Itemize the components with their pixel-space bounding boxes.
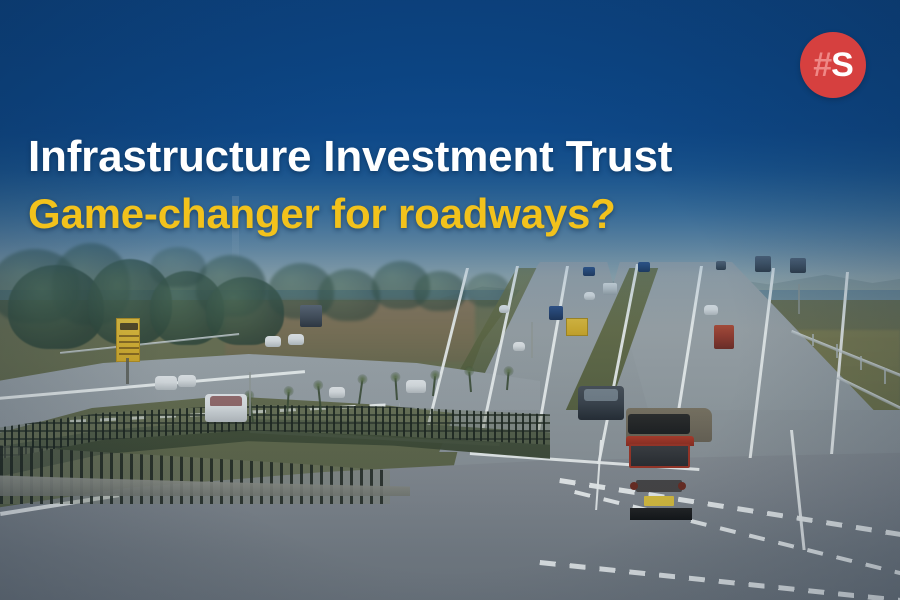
truck-number-plate (644, 496, 674, 506)
billboard-post (126, 358, 129, 384)
headline-block: Infrastructure Investment Trust Game-cha… (28, 128, 848, 242)
headline-primary: Infrastructure Investment Trust (28, 128, 848, 186)
vehicle-truck (603, 283, 617, 295)
car-windshield (210, 396, 242, 406)
truck-wheels (630, 508, 692, 520)
vehicle-car (288, 334, 304, 345)
vehicle-car (499, 305, 509, 313)
billboard-graphic (120, 323, 138, 330)
guardrail-post (884, 368, 886, 384)
article-hero-banner: Infrastructure Investment Trust Game-cha… (0, 0, 900, 600)
guardrail-post (860, 356, 862, 370)
car-windshield (584, 389, 619, 401)
truck-windshield (629, 444, 690, 468)
hash-icon: # (813, 48, 831, 82)
utility-pole (798, 284, 800, 314)
highway-direction-sign (566, 318, 588, 336)
vehicle-truck (549, 306, 563, 320)
vehicle-truck (714, 325, 734, 349)
utility-pole (249, 372, 251, 416)
vehicle-truck (790, 258, 806, 273)
vehicle-car (513, 342, 525, 351)
vehicle-car (578, 386, 624, 420)
utility-pole (531, 322, 533, 358)
vehicle-car (584, 292, 595, 300)
foreground-truck (620, 408, 716, 520)
vehicle-car (178, 375, 196, 387)
vehicle-truck (638, 262, 650, 272)
vehicle-car (205, 394, 247, 422)
vehicle-car (329, 387, 345, 398)
vehicle-car (406, 380, 426, 393)
headline-secondary: Game-changer for roadways? (28, 186, 848, 242)
guardrail-post (812, 334, 814, 346)
vehicle-car (155, 376, 177, 390)
roadside-billboard (116, 318, 140, 362)
vehicle-truck (300, 305, 322, 327)
vehicle-car (265, 336, 281, 347)
vehicle-car (704, 305, 718, 315)
guardrail-post (836, 344, 838, 358)
truck-grille (636, 480, 682, 492)
vehicle-truck (755, 256, 771, 272)
vehicle-truck (583, 267, 595, 276)
truck-headlight-right (678, 482, 686, 490)
truck-roof-rack (628, 414, 690, 434)
brand-initial: S (831, 48, 853, 82)
vehicle-truck (716, 261, 726, 270)
brand-logo[interactable]: #S (800, 32, 866, 98)
truck-headlight-left (630, 482, 638, 490)
brand-logo-text: #S (800, 32, 866, 98)
